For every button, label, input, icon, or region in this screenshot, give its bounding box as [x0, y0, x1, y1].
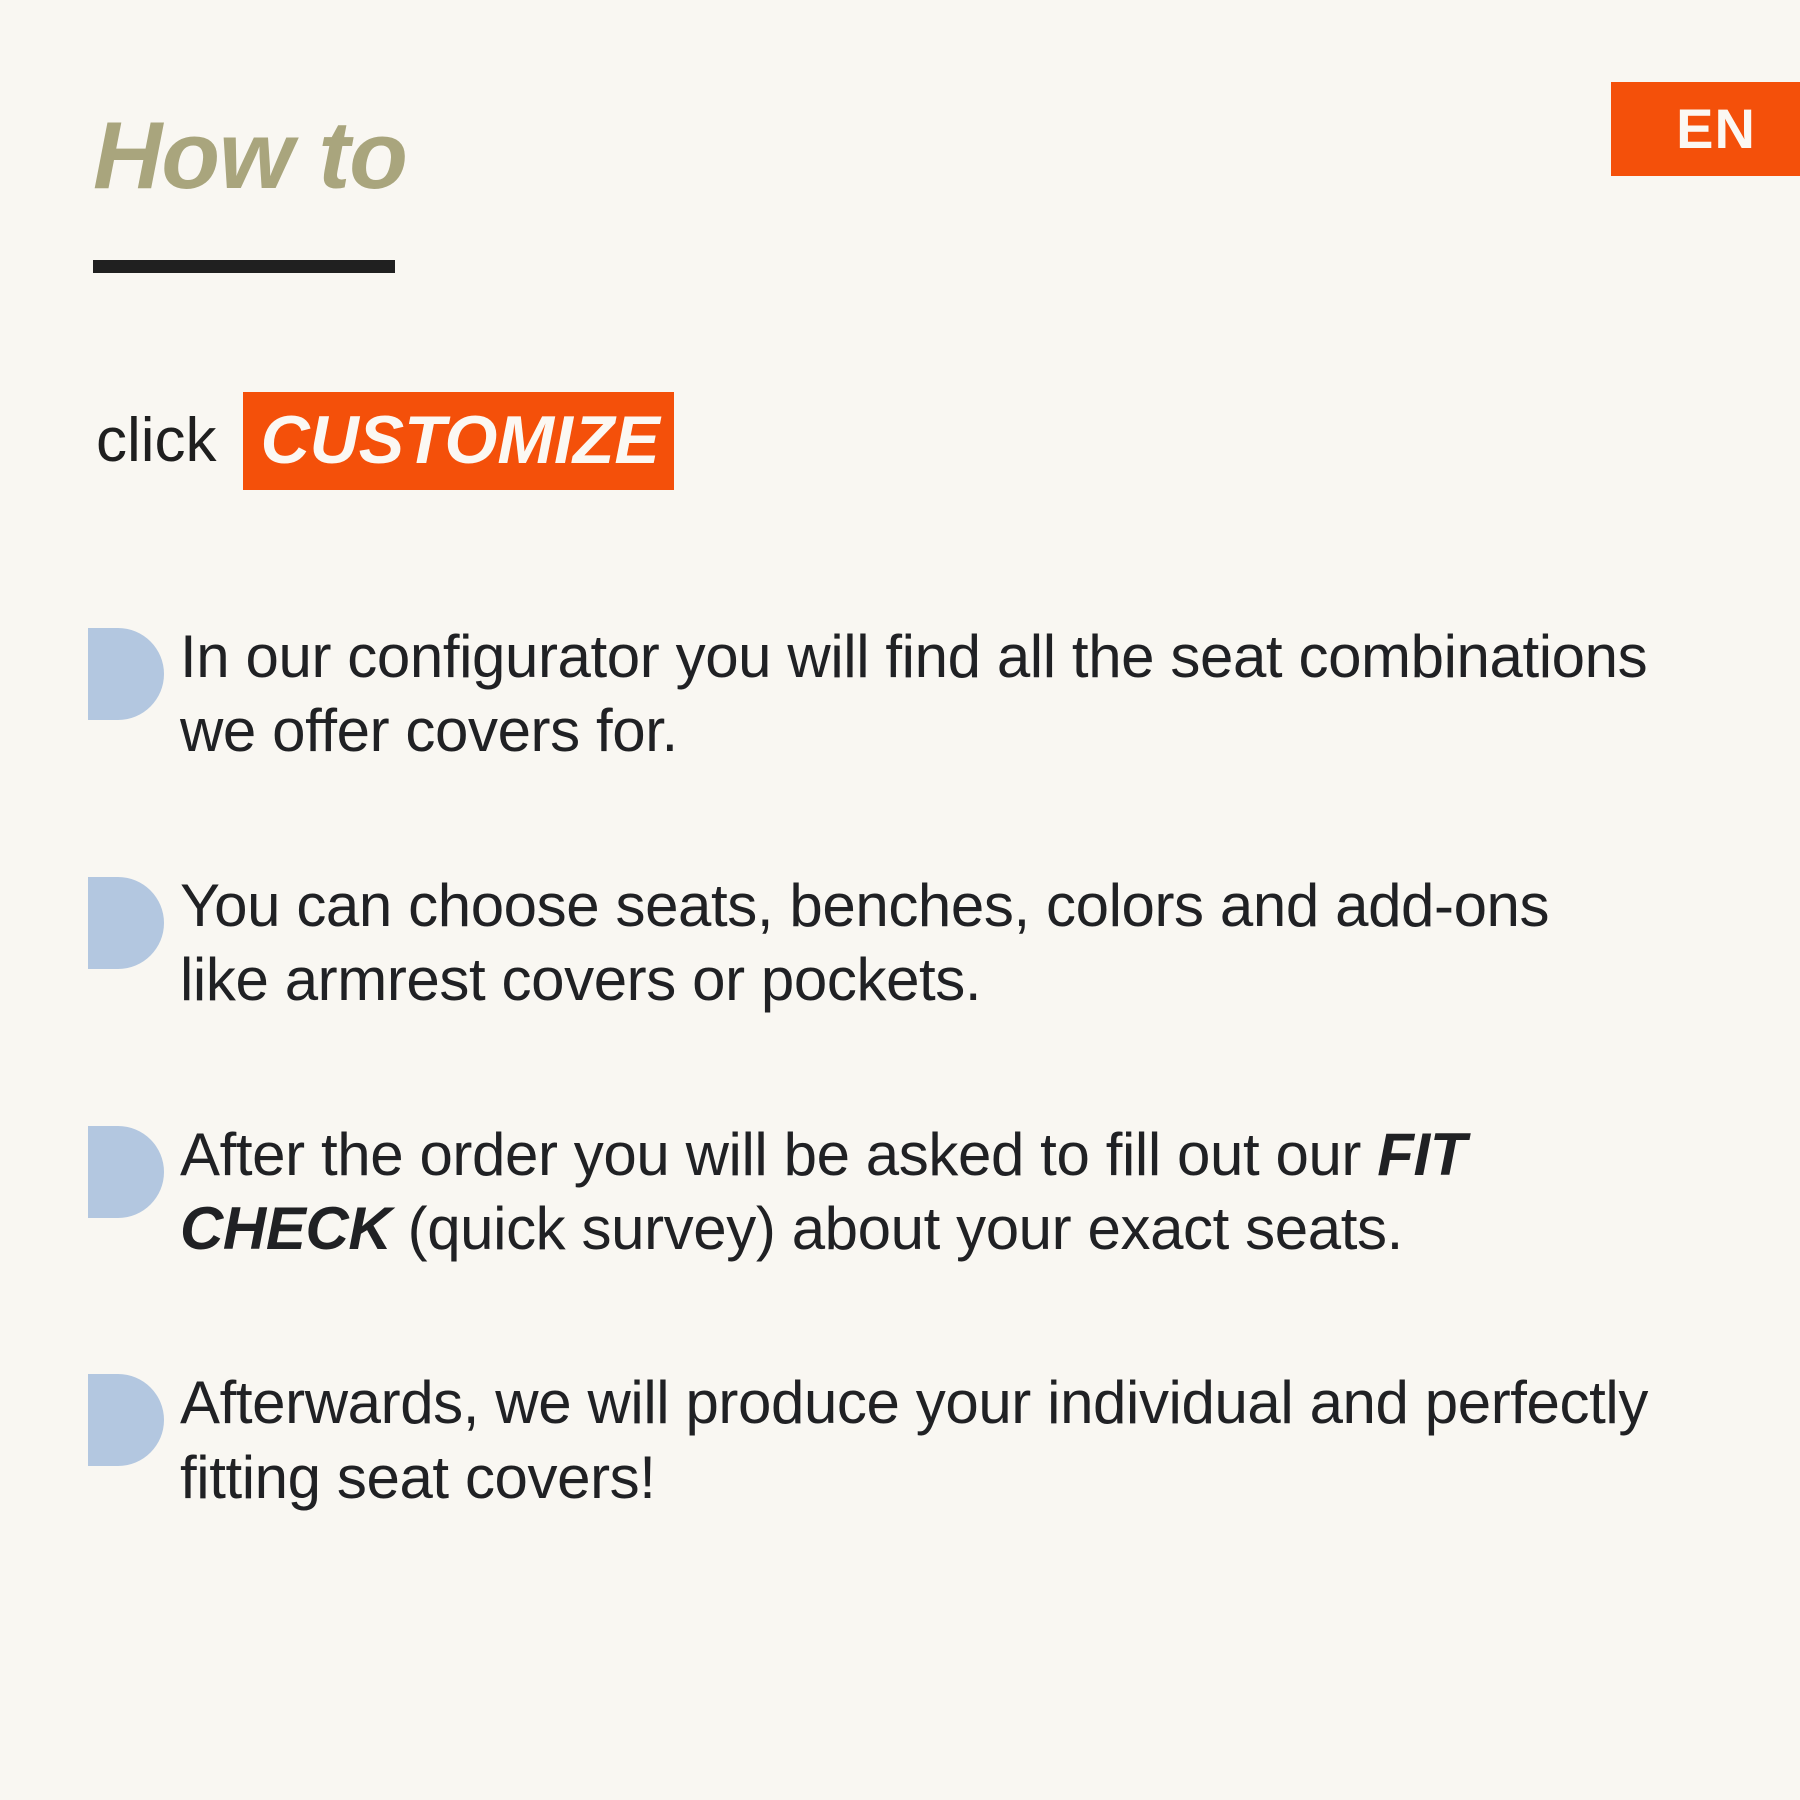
- list-item-text: In our configurator you will find all th…: [180, 620, 1648, 769]
- instruction-list: In our configurator you will find all th…: [88, 620, 1648, 1515]
- list-item: After the order you will be asked to fil…: [88, 1118, 1648, 1267]
- list-item: Afterwards, we will produce your individ…: [88, 1366, 1648, 1515]
- page-title: How to: [93, 108, 407, 204]
- list-item-text: After the order you will be asked to fil…: [180, 1118, 1648, 1267]
- bullet-marker-d-icon: [88, 1374, 164, 1466]
- language-badge-label: EN: [1676, 101, 1756, 157]
- list-item-text-after: (quick survey) about your exact seats.: [391, 1195, 1403, 1262]
- bullet-marker-d-icon: [88, 1126, 164, 1218]
- customize-button-highlight[interactable]: CUSTOMIZE: [243, 392, 674, 490]
- list-item-text-before: After the order you will be asked to fil…: [180, 1121, 1377, 1188]
- header: How to: [93, 108, 407, 273]
- bullet-marker-d-icon: [88, 628, 164, 720]
- list-item-text: You can choose seats, benches, colors an…: [180, 869, 1648, 1018]
- cta-instruction-line: click CUSTOMIZE: [96, 392, 674, 490]
- language-badge[interactable]: EN: [1611, 82, 1800, 176]
- cta-prefix-label: click: [96, 410, 243, 472]
- list-item-text: Afterwards, we will produce your individ…: [180, 1366, 1648, 1515]
- list-item: You can choose seats, benches, colors an…: [88, 869, 1648, 1018]
- title-underline-rule: [93, 260, 395, 273]
- list-item: In our configurator you will find all th…: [88, 620, 1648, 769]
- bullet-marker-d-icon: [88, 877, 164, 969]
